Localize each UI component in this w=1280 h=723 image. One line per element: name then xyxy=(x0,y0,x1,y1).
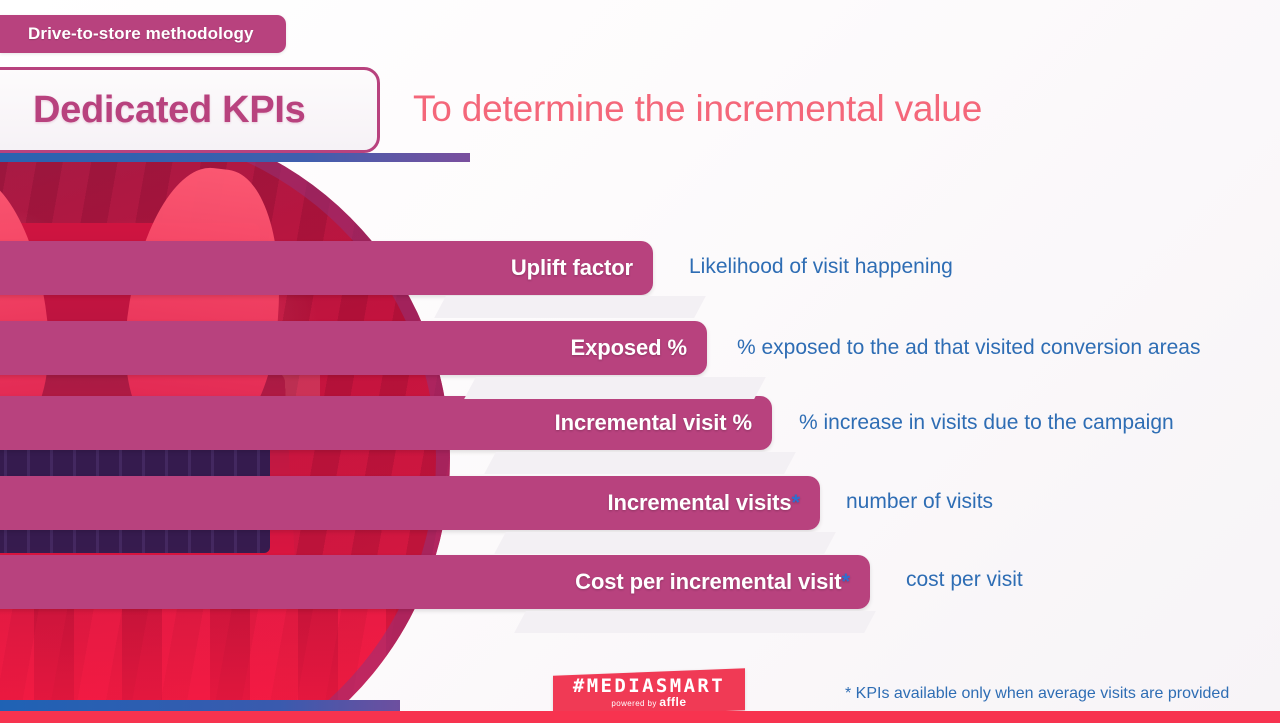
headline: To determine the incremental value xyxy=(413,88,982,130)
page-title: Dedicated KPIs xyxy=(0,89,305,132)
kpi-separator-5 xyxy=(514,611,876,633)
asterisk-icon: * xyxy=(792,490,800,515)
logo-tagline: powered by affle xyxy=(553,696,745,710)
slide-canvas: Drive-to-store methodology Dedicated KPI… xyxy=(0,0,1280,723)
kpi-description-1: Likelihood of visit happening xyxy=(689,255,953,279)
logo-brand: affle xyxy=(659,695,686,709)
kpi-label-2: Exposed % xyxy=(571,335,707,361)
eyebrow-badge: Drive-to-store methodology xyxy=(0,15,286,53)
logo-wordmark: #MEDIASMART xyxy=(553,676,745,696)
kpi-label-4: Incremental visits* xyxy=(607,490,820,516)
kpi-label-5: Cost per incremental visit* xyxy=(575,569,870,595)
kpi-bar-2[interactable]: Exposed % xyxy=(0,321,707,375)
kpi-description-5: cost per visit xyxy=(906,568,1023,592)
kpi-bar-4[interactable]: Incremental visits* xyxy=(0,476,820,530)
footnote: * KPIs available only when average visit… xyxy=(845,685,1229,703)
asterisk-icon: * xyxy=(842,569,850,594)
kpi-label-1: Uplift factor xyxy=(511,255,653,281)
kpi-bar-1[interactable]: Uplift factor xyxy=(0,241,653,295)
kpi-separator-3 xyxy=(484,452,796,474)
eyebrow-label: Drive-to-store methodology xyxy=(28,24,254,44)
kpi-label-3: Incremental visit % xyxy=(555,410,772,436)
kpi-bar-5[interactable]: Cost per incremental visit* xyxy=(0,555,870,609)
kpi-bar-3[interactable]: Incremental visit % xyxy=(0,396,772,450)
kpi-separator-2 xyxy=(464,377,766,399)
logo-powered-by: powered by xyxy=(611,699,656,708)
kpi-description-2: % exposed to the ad that visited convers… xyxy=(737,336,1200,360)
bottom-red-stripe xyxy=(0,711,1280,723)
kpi-description-3: % increase in visits due to the campaign xyxy=(799,411,1174,435)
title-box: Dedicated KPIs xyxy=(0,67,380,153)
kpi-separator-4 xyxy=(494,532,836,554)
kpi-separator-1 xyxy=(434,296,706,318)
kpi-description-4: number of visits xyxy=(846,490,993,514)
